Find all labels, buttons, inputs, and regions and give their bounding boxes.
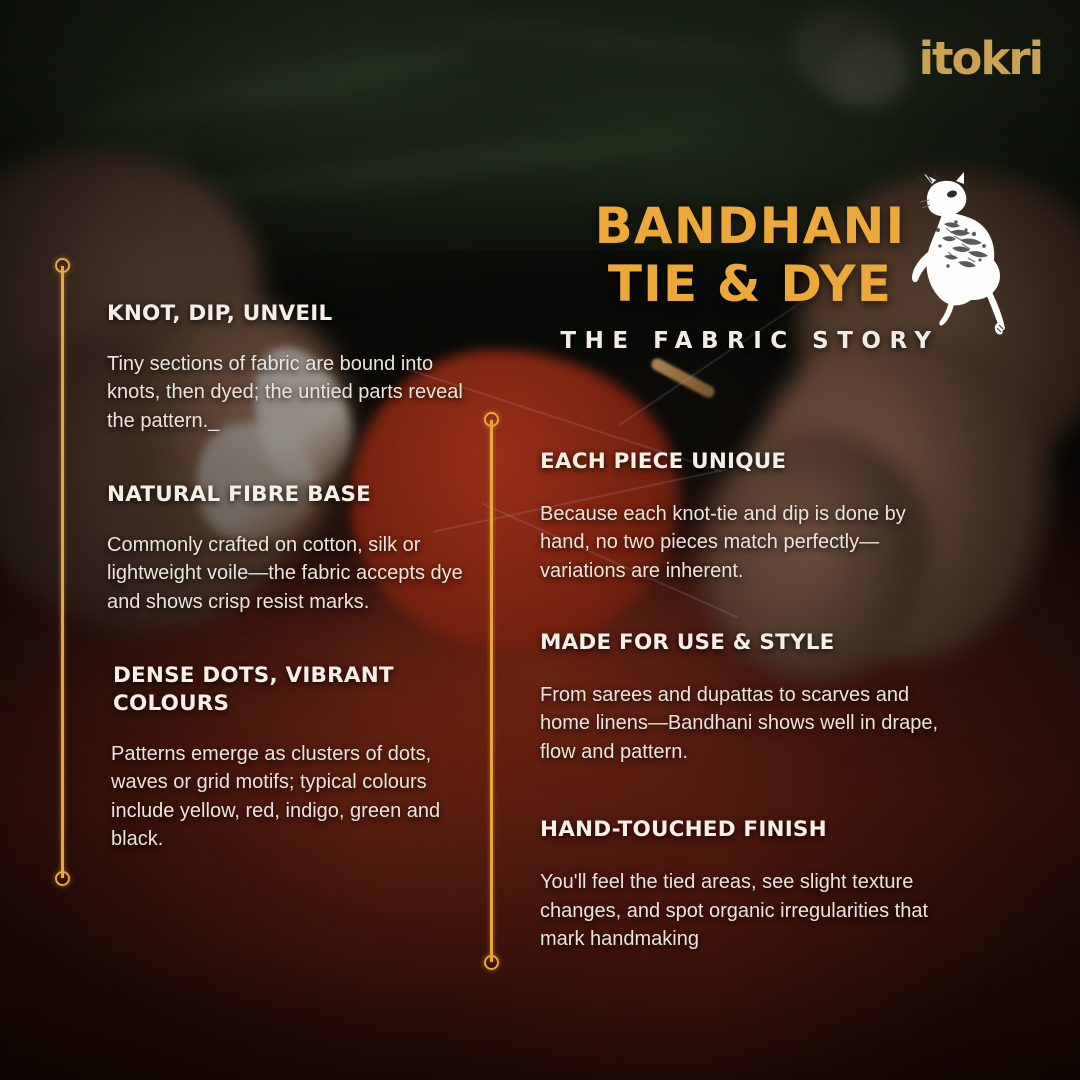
feature-block-made-for-use-and-style: MADE FOR USE & STYLE From sarees and dup… bbox=[540, 629, 940, 766]
feature-heading: HAND-TOUCHED FINISH bbox=[540, 816, 940, 844]
timeline-node-right-top bbox=[484, 412, 499, 427]
left-text-column: KNOT, DIP, UNVEIL Tiny sections of fabri… bbox=[107, 300, 465, 854]
timeline-node-left-bottom bbox=[55, 871, 70, 886]
infographic-poster: itokri bbox=[0, 0, 1080, 1080]
feature-heading: NATURAL FIBRE BASE bbox=[107, 481, 465, 509]
timeline-stem-left bbox=[61, 266, 64, 878]
feature-block-knot-dip-unveil: KNOT, DIP, UNVEIL Tiny sections of fabri… bbox=[107, 300, 465, 435]
timeline-rail-left bbox=[55, 258, 70, 886]
feature-heading: DENSE DOTS, VIBRANT COLOURS bbox=[113, 662, 465, 718]
feature-body: From sarees and dupattas to scarves and … bbox=[540, 681, 940, 766]
headline-line-2: TIE & DYE bbox=[540, 256, 960, 312]
timeline-rail-right bbox=[484, 412, 499, 970]
brand-logo-text: itokri bbox=[919, 36, 1042, 81]
headline-block: BANDHANI TIE & DYE THE FABRIC STORY bbox=[540, 198, 960, 354]
feature-block-hand-touched-finish: HAND-TOUCHED FINISH You'll feel the tied… bbox=[540, 816, 940, 953]
feature-body: Tiny sections of fabric are bound into k… bbox=[107, 350, 465, 435]
headline-subtitle: THE FABRIC STORY bbox=[540, 328, 960, 354]
feature-block-each-piece-unique: EACH PIECE UNIQUE Because each knot-tie … bbox=[540, 448, 940, 585]
feature-body: Because each knot-tie and dip is done by… bbox=[540, 500, 940, 585]
feature-heading: EACH PIECE UNIQUE bbox=[540, 448, 940, 476]
right-text-column: EACH PIECE UNIQUE Because each knot-tie … bbox=[540, 448, 940, 953]
feature-heading: KNOT, DIP, UNVEIL bbox=[107, 300, 465, 328]
feature-block-natural-fibre-base: NATURAL FIBRE BASE Commonly crafted on c… bbox=[107, 481, 465, 616]
feature-body: Commonly crafted on cotton, silk or ligh… bbox=[107, 531, 465, 616]
feature-heading: MADE FOR USE & STYLE bbox=[540, 629, 940, 657]
timeline-node-right-bottom bbox=[484, 955, 499, 970]
feature-body: You'll feel the tied areas, see slight t… bbox=[540, 868, 940, 953]
timeline-node-left-top bbox=[55, 258, 70, 273]
feature-body: Patterns emerge as clusters of dots, wav… bbox=[111, 740, 465, 854]
timeline-stem-right bbox=[490, 420, 493, 962]
feature-block-dense-dots-vibrant-colours: DENSE DOTS, VIBRANT COLOURS Patterns eme… bbox=[107, 662, 465, 853]
brand-logo[interactable]: itokri bbox=[919, 36, 1042, 81]
headline-line-1: BANDHANI bbox=[540, 198, 960, 254]
